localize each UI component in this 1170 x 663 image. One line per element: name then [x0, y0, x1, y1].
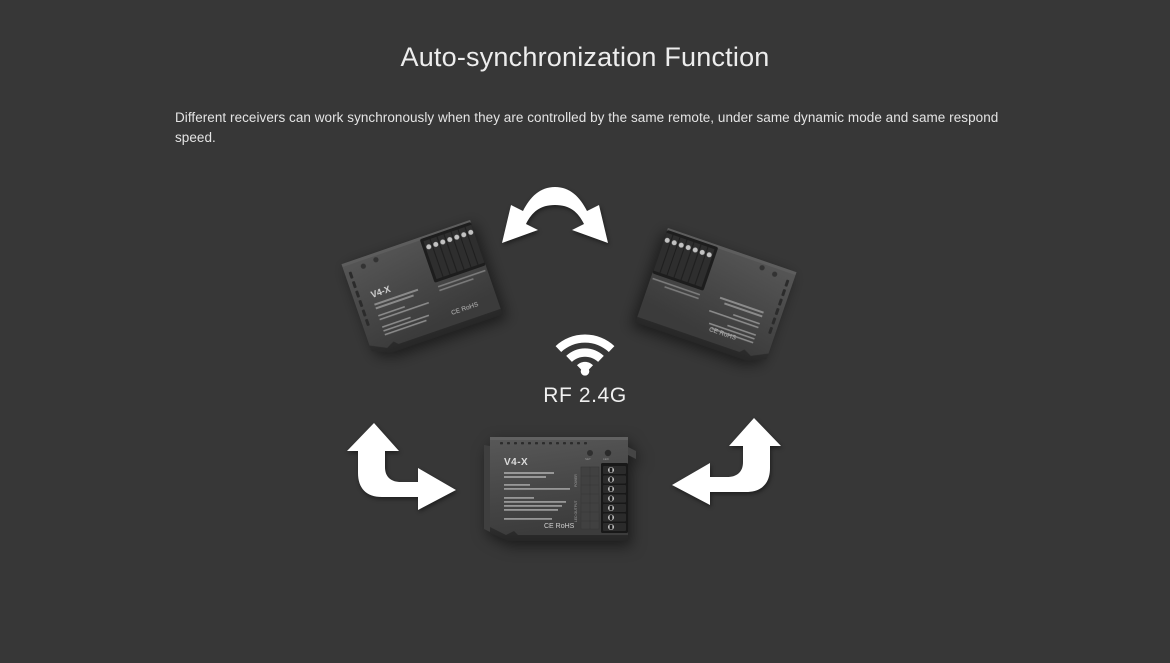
page-description: Different receivers can work synchronous… — [175, 108, 1005, 148]
svg-text:POWER: POWER — [574, 474, 578, 487]
device-model-label-bottom: V4-X — [504, 457, 528, 468]
svg-text:LED OUTPUT: LED OUTPUT — [574, 501, 578, 522]
arrow-top-bidirectional — [492, 181, 618, 259]
svg-text:LED: LED — [603, 457, 610, 461]
page-title: Auto-synchronization Function — [0, 42, 1170, 73]
device-compliance-marks-bottom: CE RoHS — [544, 523, 575, 530]
auto-sync-diagram: RF 2.4G — [330, 175, 840, 575]
arrow-right-bidirectional — [666, 415, 784, 507]
wifi-signal-icon — [554, 330, 616, 376]
rf-protocol-label: RF 2.4G — [505, 384, 665, 408]
device-bottom-center: SET LED V4-X CE RoHS POWER LED OUTPUT — [482, 425, 642, 543]
rf-hub: RF 2.4G — [505, 330, 665, 408]
arrow-left-bidirectional — [344, 420, 462, 512]
svg-text:SET: SET — [585, 457, 591, 461]
